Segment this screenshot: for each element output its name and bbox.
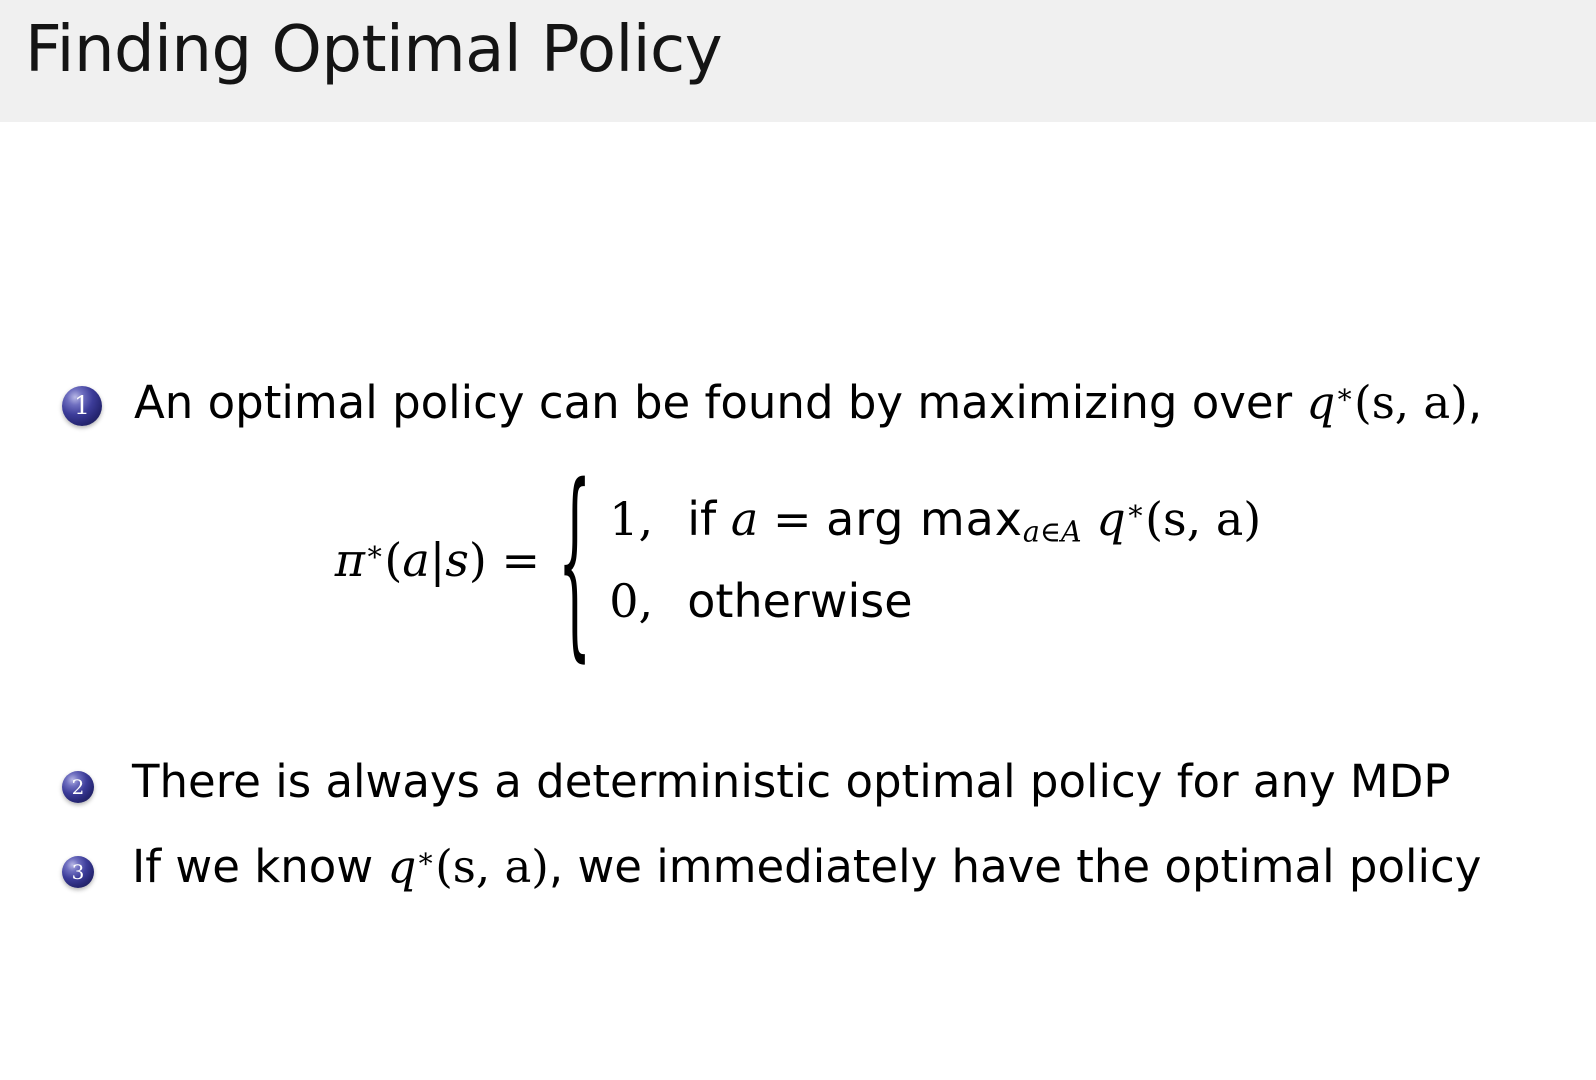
pi-symbol: π	[335, 533, 365, 587]
cond-action-var: a	[731, 492, 758, 546]
cond-q-args: (s, a)	[1145, 492, 1261, 546]
list-item-text: There is always a deterministic optimal …	[132, 755, 1451, 810]
case-top-value: 1,	[609, 492, 687, 546]
lhs-state-var: s	[445, 533, 469, 587]
list-item: 1 An optimal policy can be found by maxi…	[62, 376, 1482, 431]
item3-math-args: (s, a)	[435, 840, 549, 893]
cond-q-var: q	[1096, 492, 1125, 546]
equation-lhs: π∗(a|s) =	[335, 533, 556, 587]
slide: Finding Optimal Policy 1 An optimal poli…	[0, 0, 1596, 1080]
lhs-conditional-bar: |	[430, 533, 446, 587]
if-keyword: if	[687, 492, 731, 546]
case-row-bottom: 0, otherwise	[609, 574, 1261, 628]
case-bottom-value: 0,	[609, 574, 687, 628]
list-item-text: An optimal policy can be found by maximi…	[134, 376, 1482, 431]
argmax-subscript: a∈A	[1023, 515, 1082, 548]
cond-q-star: ∗	[1126, 494, 1145, 527]
lhs-open-paren: (	[384, 533, 402, 587]
equals-sign: =	[501, 533, 540, 587]
item3-math-star: ∗	[416, 842, 435, 875]
cond-equals: =	[758, 492, 826, 546]
cases-block: 1, if a = arg maxa∈A q∗(s, a) 0, otherwi…	[609, 492, 1261, 628]
list-item: 3 If we know q∗(s, a), we immediately ha…	[62, 840, 1481, 895]
item1-text-before: An optimal policy can be found by maximi…	[134, 376, 1306, 429]
list-item: 2 There is always a deterministic optima…	[62, 755, 1451, 810]
slide-header: Finding Optimal Policy	[0, 0, 1596, 122]
equation-inner: π∗(a|s) = { 1, if a = arg maxa∈A q∗(s, a…	[335, 492, 1262, 628]
enumerate-marker-2: 2	[62, 771, 94, 803]
lhs-close-paren: )	[469, 533, 487, 587]
cases-brace: {	[558, 458, 592, 663]
page-title: Finding Optimal Policy	[25, 17, 722, 84]
slide-body: 1 An optimal policy can be found by maxi…	[0, 122, 1596, 1080]
item3-math-q: q	[387, 840, 416, 893]
item1-math-q: q	[1306, 376, 1335, 429]
item1-math-star: ∗	[1335, 378, 1354, 411]
case-row-top: 1, if a = arg maxa∈A q∗(s, a)	[609, 492, 1261, 548]
item3-text-after: , we immediately have the optimal policy	[549, 840, 1481, 893]
display-equation: π∗(a|s) = { 1, if a = arg maxa∈A q∗(s, a…	[0, 492, 1596, 628]
case-top-condition: if a = arg maxa∈A q∗(s, a)	[687, 492, 1261, 548]
lhs-action-var: a	[402, 533, 429, 587]
list-item-text: If we know q∗(s, a), we immediately have…	[132, 840, 1481, 895]
item1-text-after: ,	[1468, 376, 1482, 429]
case-bottom-condition: otherwise	[687, 574, 912, 628]
pi-star: ∗	[365, 535, 384, 568]
item1-math-args: (s, a)	[1354, 376, 1468, 429]
enumerate-marker-1: 1	[62, 386, 102, 426]
argmax-operator: arg max	[826, 492, 1023, 546]
enumerate-marker-3: 3	[62, 856, 94, 888]
item3-text-before: If we know	[132, 840, 387, 893]
